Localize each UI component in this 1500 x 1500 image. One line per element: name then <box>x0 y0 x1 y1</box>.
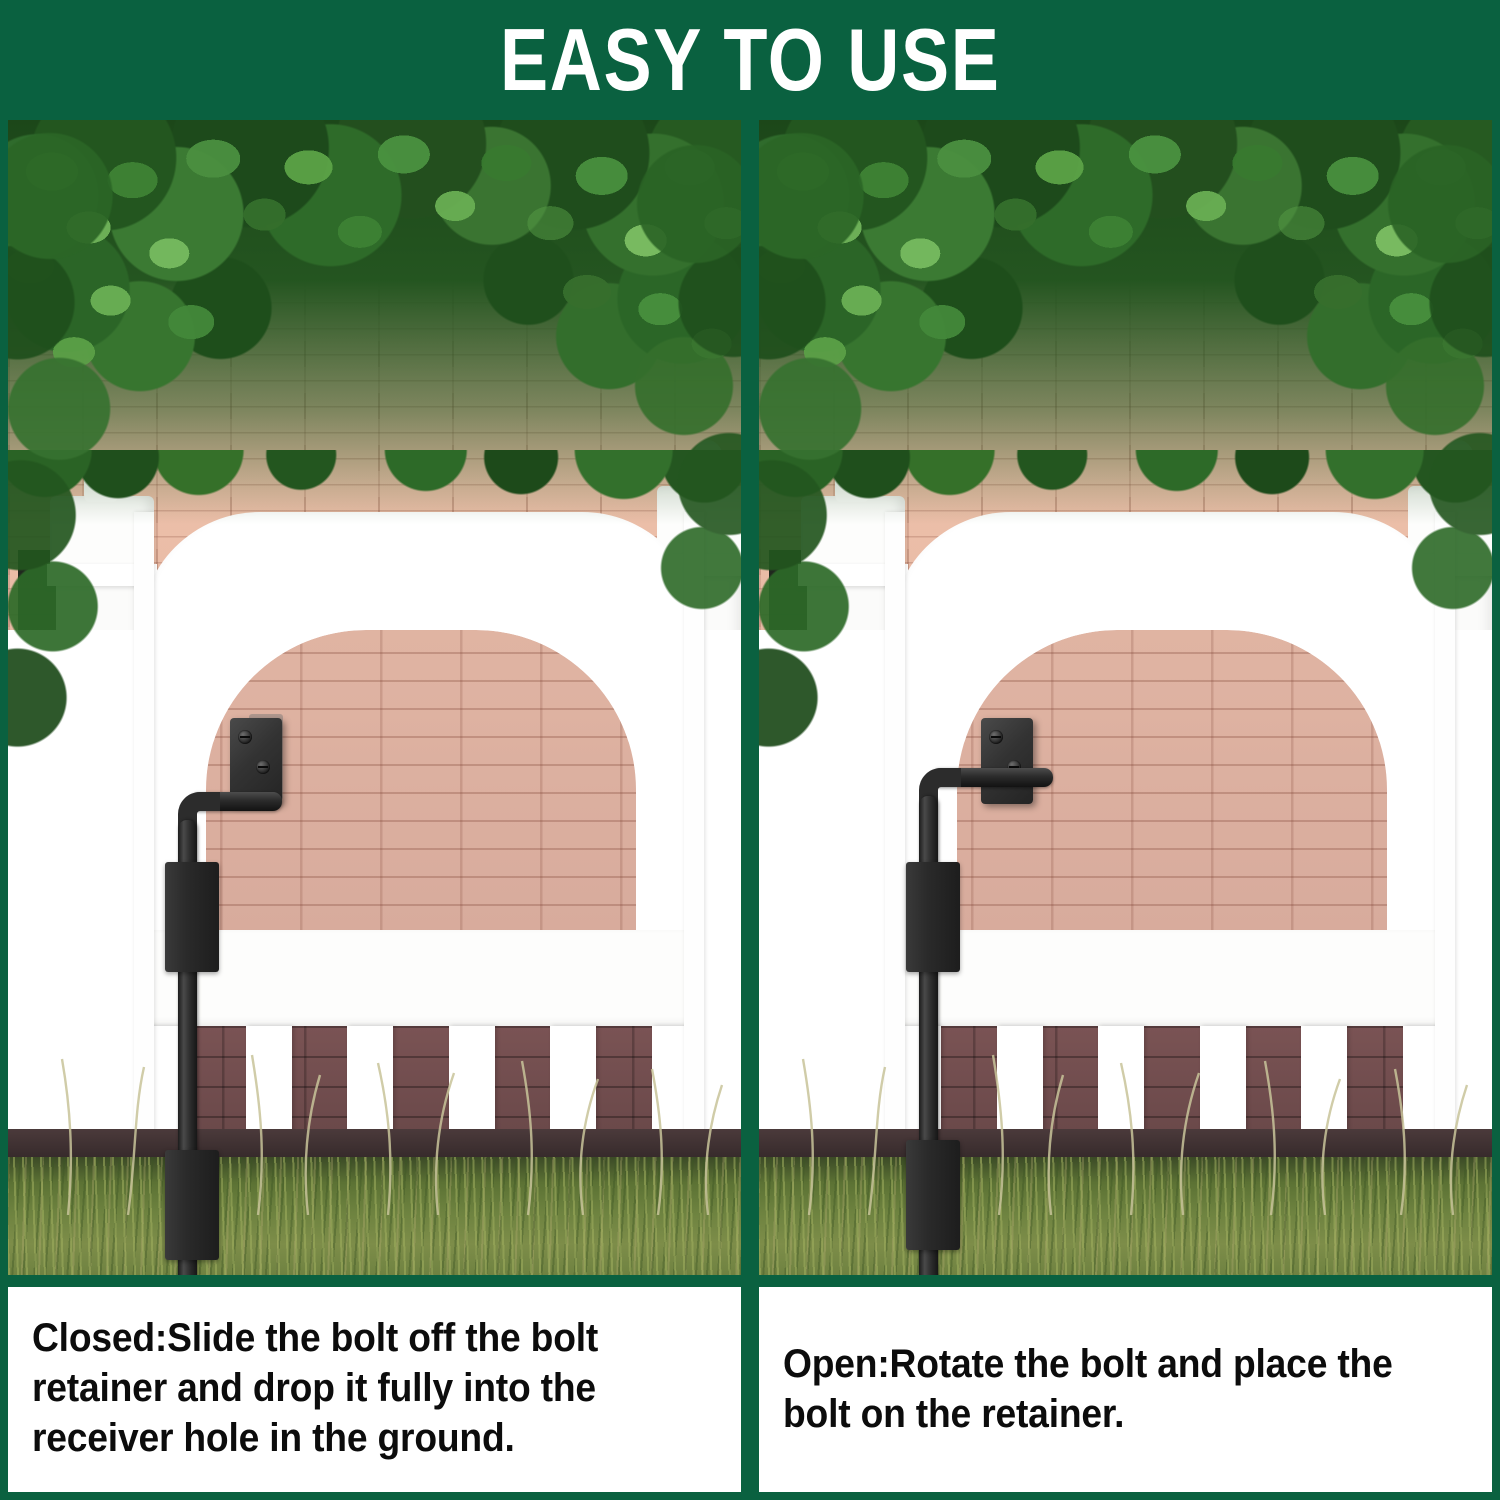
gate-mid-rail <box>140 930 702 1026</box>
caption-open-text: Open:Rotate the bolt and place the bolt … <box>783 1313 1420 1439</box>
ivy-left-column <box>8 120 168 880</box>
bolt-guide-bracket-upper <box>906 862 960 972</box>
panel-closed <box>8 120 741 1275</box>
panel-open <box>759 120 1492 1275</box>
grass-ground <box>759 1157 1492 1275</box>
screw-icon <box>989 730 1003 744</box>
caption-open: Open:Rotate the bolt and place the bolt … <box>759 1287 1492 1492</box>
ivy-right-column <box>1342 120 1492 820</box>
screw-icon <box>238 730 252 744</box>
bolt-guide-bracket-lower <box>165 1150 219 1260</box>
header-banner: EASY TO USE <box>0 0 1500 120</box>
caption-closed-text: Closed:Slide the bolt off the bolt retai… <box>32 1313 669 1463</box>
bolt-guide-bracket-lower <box>906 1140 960 1250</box>
bolt-retainer-plate[interactable] <box>981 718 1033 804</box>
page-title: EASY TO USE <box>500 16 1001 104</box>
grass-ground <box>8 1157 741 1275</box>
product-infographic: EASY TO USE <box>0 0 1500 1500</box>
gate-mid-rail <box>891 930 1453 1026</box>
caption-closed: Closed:Slide the bolt off the bolt retai… <box>8 1287 741 1492</box>
ivy-right-column <box>591 120 741 820</box>
panel-divider <box>741 120 759 1492</box>
ivy-left-column <box>759 120 919 880</box>
bolt-guide-bracket-upper <box>165 862 219 972</box>
screw-icon <box>256 760 270 774</box>
